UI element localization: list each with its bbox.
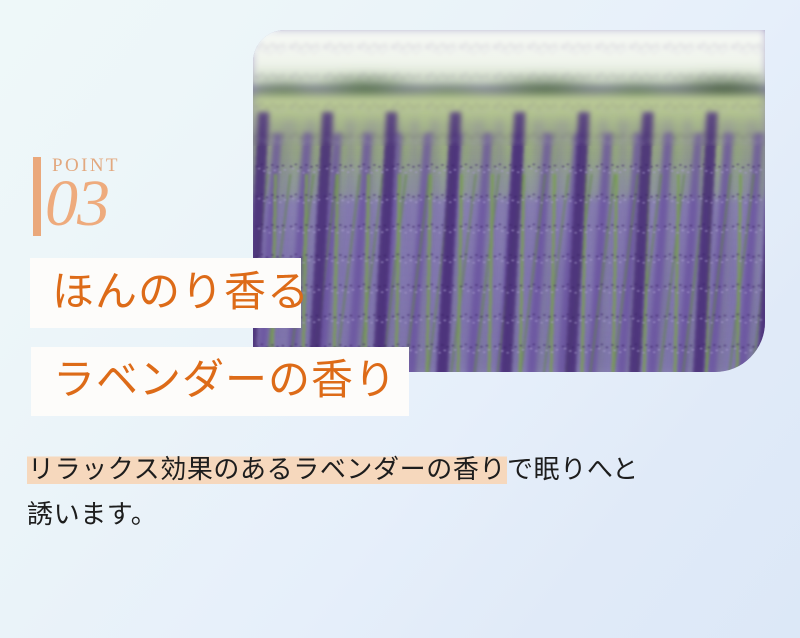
body-copy: リラックス効果のあるラベンダーの香りで眠りへと 誘います。	[27, 447, 767, 536]
point-number: 03	[45, 171, 109, 237]
lavender-photo-canvas	[253, 30, 765, 372]
body-copy-line-1-tail: で眠りへと	[507, 454, 639, 484]
headline-box-first-line: ほんのり香る	[30, 258, 301, 328]
headline-line-2: ラベンダーの香り	[53, 359, 397, 403]
headline-box-second-line: ラベンダーの香り	[31, 347, 409, 416]
body-copy-line-2: 誘います。	[27, 492, 767, 537]
lavender-floret-texture	[253, 30, 765, 372]
lavender-photo	[253, 30, 765, 372]
body-copy-line-1: リラックス効果のあるラベンダーの香りで眠りへと	[27, 447, 767, 492]
body-copy-highlighted-phrase: リラックス効果のあるラベンダーの香り	[27, 454, 507, 484]
headline-line-1: ほんのり香る	[52, 271, 310, 315]
promo-panel: POINT 03 ほんのり香る ラベンダーの香り リラックス効果のあるラベンダー…	[0, 0, 800, 638]
point-accent-bar	[33, 157, 41, 236]
